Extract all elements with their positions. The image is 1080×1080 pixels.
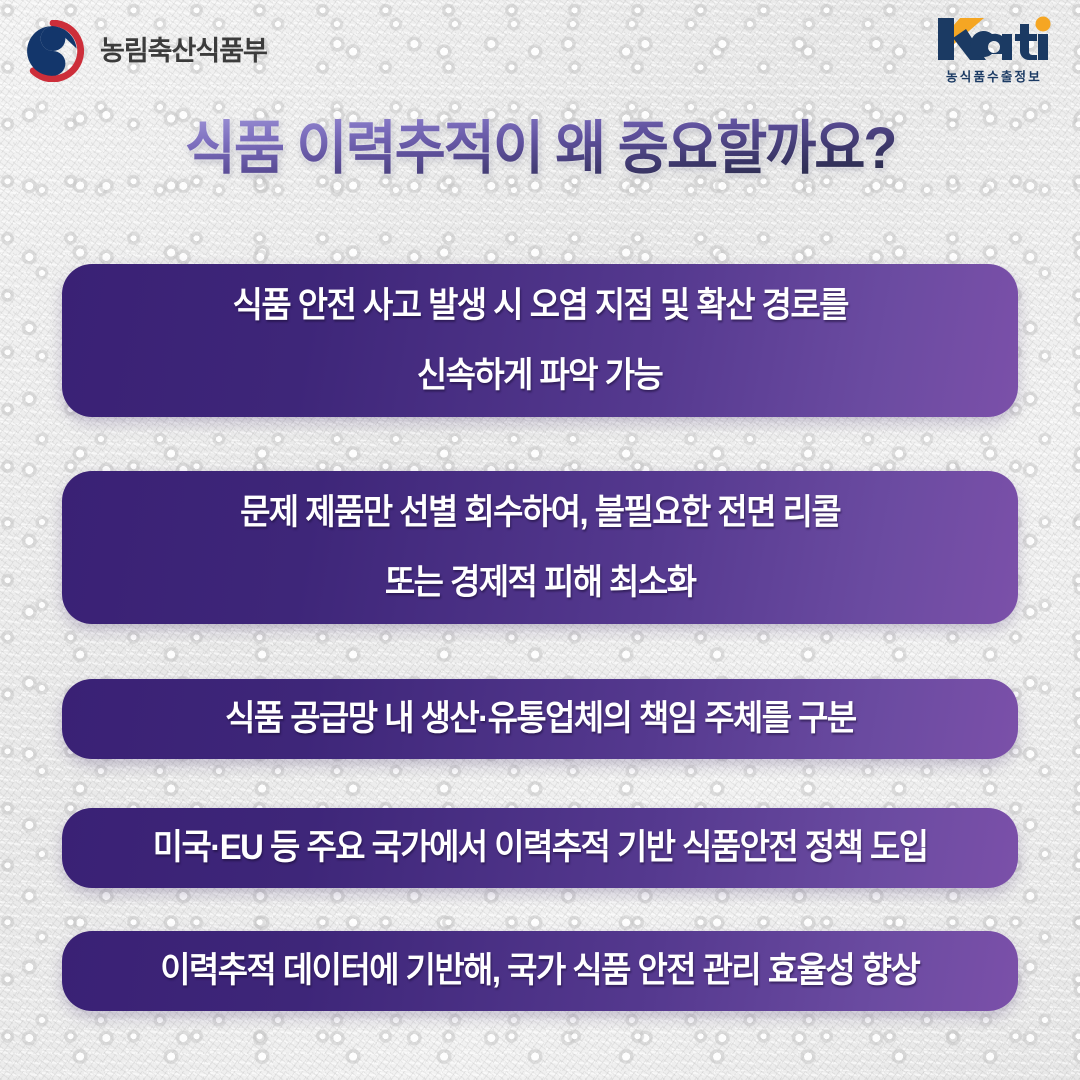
page-title: 식품 이력추적이 왜 중요할까요? — [185, 116, 895, 183]
card-line: 신속하게 파악 가능 — [417, 356, 662, 395]
kati-wordmark-icon — [930, 14, 1058, 64]
card-line: 또는 경제적 피해 최소화 — [385, 563, 696, 602]
poster-header: 농림축산식품부 농식품수출정보 — [0, 0, 1080, 110]
card-gap — [62, 624, 1018, 679]
benefit-card-list: 식품 안전 사고 발생 시 오염 지점 및 확산 경로를 신속하게 파악 가능 … — [62, 264, 1018, 1011]
card-line: 미국·EU 등 주요 국가에서 이력추적 기반 식품안전 정책 도입 — [153, 828, 928, 867]
ministry-name: 농림축산식품부 — [100, 38, 267, 65]
benefit-card-global-policy[interactable]: 미국·EU 등 주요 국가에서 이력추적 기반 식품안전 정책 도입 — [62, 808, 1018, 888]
kati-logo: 농식품수출정보 — [930, 14, 1058, 85]
benefit-card-responsibility[interactable]: 식품 공급망 내 생산·유통업체의 책임 주체를 구분 — [62, 679, 1018, 759]
card-gap — [62, 417, 1018, 471]
korea-government-taegeuk-icon — [22, 20, 84, 82]
card-line: 식품 공급망 내 생산·유통업체의 책임 주체를 구분 — [225, 699, 856, 738]
page-title-wrapper: 식품 이력추적이 왜 중요할까요? — [0, 116, 1080, 183]
card-line: 문제 제품만 선별 회수하여, 불필요한 전면 리콜 — [240, 493, 840, 532]
card-gap — [62, 888, 1018, 931]
kati-subtitle: 농식품수출정보 — [930, 66, 1058, 85]
card-line: 식품 안전 사고 발생 시 오염 지점 및 확산 경로를 — [232, 286, 847, 325]
ministry-logo: 농림축산식품부 — [22, 20, 267, 82]
infographic-poster: 농림축산식품부 농식품수출정보 식품 이력추적이 왜 중요할까요? — [0, 0, 1080, 1080]
card-line: 이력추적 데이터에 기반해, 국가 식품 안전 관리 효율성 향상 — [160, 951, 919, 990]
benefit-card-rapid-detection[interactable]: 식품 안전 사고 발생 시 오염 지점 및 확산 경로를 신속하게 파악 가능 — [62, 264, 1018, 417]
benefit-card-national-efficiency[interactable]: 이력추적 데이터에 기반해, 국가 식품 안전 관리 효율성 향상 — [62, 931, 1018, 1011]
benefit-card-selective-recall[interactable]: 문제 제품만 선별 회수하여, 불필요한 전면 리콜 또는 경제적 피해 최소화 — [62, 471, 1018, 624]
card-gap — [62, 759, 1018, 808]
